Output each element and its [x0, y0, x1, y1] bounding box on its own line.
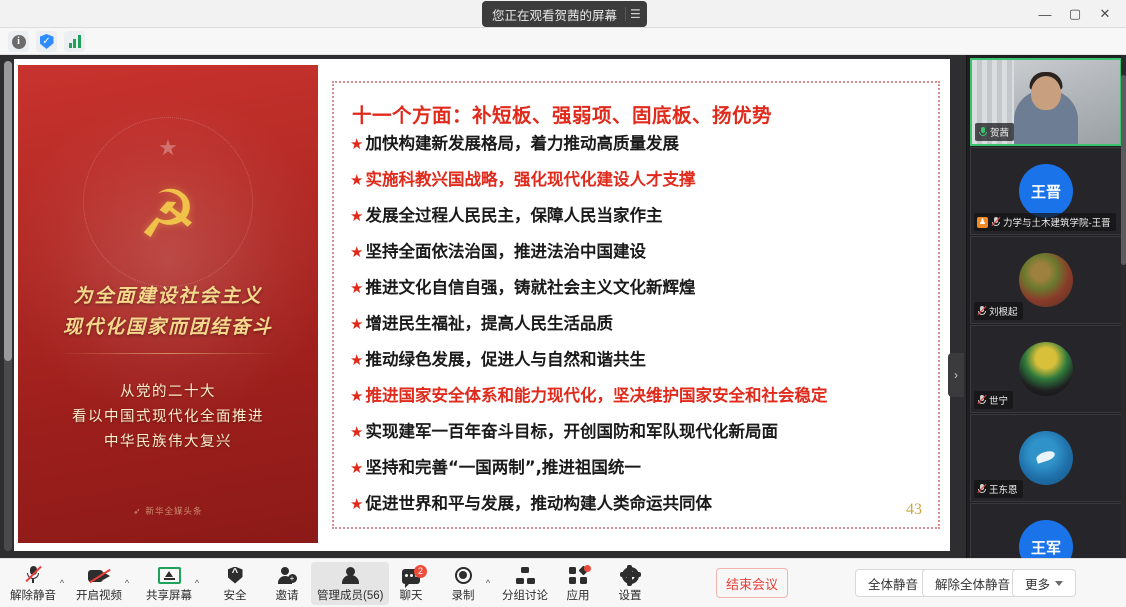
manage-participants-label: 管理成员(56) — [317, 587, 383, 603]
slide-bullet: ★推动绿色发展，促进人与自然和谐共生 — [350, 352, 928, 388]
star-icon: ★ — [350, 281, 363, 296]
participant-tile[interactable]: 刘根起 — [970, 236, 1122, 324]
participant-tile[interactable]: 贺茜 — [970, 58, 1122, 146]
apps-icon — [569, 565, 587, 584]
manage-participants-button[interactable]: 管理成员(56) — [311, 562, 389, 605]
participant-filmstrip: 贺茜王晋♟力学与土木建筑学院-王晋刘根起世宁王东恩王军 — [966, 55, 1126, 558]
slide-bullet-list: ★加快构建新发展格局，着力推动高质量发展★实施科教兴国战略，强化现代化建设人才支… — [344, 136, 928, 532]
record-icon — [455, 565, 472, 584]
chat-label: 聊天 — [400, 587, 423, 603]
apps-notification-dot — [584, 565, 591, 572]
participant-tile[interactable]: 王晋♟力学与土木建筑学院-王晋 — [970, 147, 1122, 235]
security-button[interactable]: 安全 — [209, 562, 261, 605]
audio-options-caret[interactable]: ^ — [55, 573, 69, 593]
poster-star-icon: ★ — [158, 137, 178, 159]
slide-bullet-label: 增进民生福祉，提高人民生活品质 — [365, 316, 613, 333]
maximize-button[interactable]: ▢ — [1060, 1, 1090, 27]
participant-name: 王东恩 — [989, 482, 1018, 496]
star-icon: ★ — [350, 461, 363, 476]
star-icon: ★ — [350, 317, 363, 332]
poster-headline-line-1: 为全面建设社会主义 — [18, 281, 318, 312]
slide-content-panel: 十一个方面：补短板、强弱项、固底板、扬优势 ★加快构建新发展格局，着力推动高质量… — [332, 81, 940, 529]
participant-name: 刘根起 — [989, 304, 1018, 318]
star-icon: ★ — [350, 173, 363, 188]
participant-tile[interactable]: 世宁 — [970, 325, 1122, 413]
slide-bullet-label: 加快构建新发展格局，着力推动高质量发展 — [365, 136, 679, 153]
person-icon — [341, 565, 360, 584]
microphone-icon — [978, 127, 987, 138]
star-icon: ★ — [350, 209, 363, 224]
record-options-caret[interactable]: ^ — [481, 573, 495, 593]
slide-bullet-label: 实现建军一百年奋斗目标，开创国防和军队现代化新局面 — [365, 424, 778, 441]
invite-button[interactable]: + 邀请 — [261, 562, 313, 605]
chat-button[interactable]: 2 聊天 — [385, 562, 437, 605]
star-icon: ★ — [350, 425, 363, 440]
slide-bullet-label: 实施科教兴国战略，强化现代化建设人才支撑 — [365, 172, 695, 189]
share-options-caret[interactable]: ^ — [190, 573, 204, 593]
avatar: 王晋 — [1019, 164, 1073, 218]
poster-subtitle-line-1: 从党的二十大 — [18, 380, 318, 405]
invite-label: 邀请 — [276, 587, 299, 603]
slide-title: 十一个方面：补短板、强弱项、固底板、扬优势 — [352, 99, 928, 128]
unmute-button[interactable]: 解除静音 — [4, 562, 62, 605]
chevron-down-icon — [1055, 581, 1063, 586]
settings-button[interactable]: 设置 — [604, 562, 656, 605]
slide-bullet: ★推进国家安全体系和能力现代化，坚决维护国家安全和社会稳定 — [350, 388, 928, 424]
end-meeting-button[interactable]: 结束会议 — [716, 568, 788, 598]
participant-name: 贺茜 — [990, 125, 1009, 139]
shared-slide: ★ ☭ 为全面建设社会主义 现代化国家而团结奋斗 从党的二十大 看以中国式现代化… — [14, 59, 950, 551]
poster-headline-line-2: 现代化国家而团结奋斗 — [18, 312, 318, 343]
slide-bullet: ★加快构建新发展格局，着力推动高质量发展 — [350, 136, 928, 172]
participant-name-badge: 世宁 — [974, 391, 1013, 409]
share-screen-label: 共享屏幕 — [146, 587, 192, 603]
slide-bullet-label: 促进世界和平与发展，推动构建人类命运共同体 — [365, 496, 712, 513]
video-options-caret[interactable]: ^ — [120, 573, 134, 593]
meeting-toolbar: 解除静音 ^ 开启视频 ^ 共享屏幕 ^ 安全 + 邀请 — [0, 558, 1126, 607]
security-label: 安全 — [224, 587, 247, 603]
microphone-muted-icon — [977, 395, 986, 406]
star-icon: ★ — [350, 137, 363, 152]
slide-bullet-label: 坚持全面依法治国，推进法治中国建设 — [365, 244, 646, 261]
network-bars-icon — [69, 35, 81, 48]
viewing-screen-label: 您正在观看贺茜的屏幕 — [492, 5, 617, 24]
participant-name-badge: 刘根起 — [974, 302, 1023, 320]
participant-name: 世宁 — [989, 393, 1008, 407]
record-label: 录制 — [452, 587, 475, 603]
slide-bullet: ★促进世界和平与发展，推动构建人类命运共同体 — [350, 496, 928, 532]
slide-bullet-label: 推进文化自信自强，铸就社会主义文化新辉煌 — [365, 280, 695, 297]
poster-credit: ➶新华全媒头条 — [18, 505, 318, 517]
add-person-icon: + — [278, 565, 297, 584]
meeting-info-button[interactable]: i — [8, 31, 29, 52]
slide-bullet-label: 推进国家安全体系和能力现代化，坚决维护国家安全和社会稳定 — [365, 388, 827, 405]
gear-icon — [622, 565, 639, 584]
breakout-rooms-button[interactable]: 分组讨论 — [496, 562, 554, 605]
share-screen-icon — [158, 565, 181, 584]
settings-label: 设置 — [619, 587, 642, 603]
more-label: 更多 — [1025, 574, 1050, 593]
apps-button[interactable]: 应用 — [552, 562, 604, 605]
microphone-muted-icon — [25, 565, 41, 584]
poster-divider — [58, 353, 278, 354]
encryption-button[interactable]: ✓ — [36, 31, 57, 52]
more-options-button[interactable]: 更多 — [1012, 569, 1076, 597]
breakout-rooms-icon — [516, 565, 535, 584]
notice-menu-icon[interactable]: ☰ — [625, 7, 641, 21]
filmstrip-scrollbar[interactable] — [1121, 55, 1126, 558]
slide-poster-panel: ★ ☭ 为全面建设社会主义 现代化国家而团结奋斗 从党的二十大 看以中国式现代化… — [18, 65, 318, 543]
apps-label: 应用 — [567, 587, 590, 603]
poster-subtitle-line-3: 中华民族伟大复兴 — [18, 430, 318, 455]
participant-name-badge: 王东恩 — [974, 480, 1023, 498]
camera-muted-icon — [88, 565, 110, 584]
microphone-muted-icon — [991, 217, 1000, 228]
slide-page-number: 43 — [906, 501, 922, 519]
swoosh-icon: ➶ — [133, 506, 141, 516]
slide-bullet: ★发展全过程人民民主，保障人民当家作主 — [350, 208, 928, 244]
info-icon: i — [12, 35, 26, 49]
poster-subtitle: 从党的二十大 看以中国式现代化全面推进 中华民族伟大复兴 — [18, 380, 318, 455]
viewing-screen-notice[interactable]: 您正在观看贺茜的屏幕 ☰ — [482, 1, 647, 27]
unmute-all-button[interactable]: 解除全体静音 — [922, 569, 1023, 597]
slide-bullet: ★推进文化自信自强，铸就社会主义文化新辉煌 — [350, 280, 928, 316]
participant-name: 力学与土木建筑学院-王晋 — [1003, 215, 1111, 229]
close-button[interactable]: ✕ — [1090, 1, 1120, 27]
avatar — [1019, 431, 1073, 485]
slide-bullet-label: 坚持和完善“一国两制”,推进祖国统一 — [365, 460, 640, 477]
window-controls: — ▢ ✕ — [1030, 0, 1120, 28]
network-quality-button[interactable] — [64, 31, 85, 52]
shield-icon — [228, 565, 243, 584]
unmute-label: 解除静音 — [10, 587, 56, 603]
participant-tile[interactable]: 王东恩 — [970, 414, 1122, 502]
poster-subtitle-line-2: 看以中国式现代化全面推进 — [18, 405, 318, 430]
start-video-label: 开启视频 — [76, 587, 122, 603]
slide-bullet: ★实施科教兴国战略，强化现代化建设人才支撑 — [350, 172, 928, 208]
star-icon: ★ — [350, 497, 363, 512]
avatar — [1019, 253, 1073, 307]
chat-icon: 2 — [402, 565, 420, 584]
slide-bullet: ★增进民生福祉，提高人民生活品质 — [350, 316, 928, 352]
zoom-meeting-window: 您正在观看贺茜的屏幕 ☰ — ▢ ✕ i ✓ 正在讲话: 贺茜; — [0, 0, 1126, 607]
slide-bullet: ★坚持全面依法治国，推进法治中国建设 — [350, 244, 928, 280]
slide-bullet: ★坚持和完善“一国两制”,推进祖国统一 — [350, 460, 928, 496]
participant-name-badge: 贺茜 — [975, 123, 1014, 141]
participant-name-badge: ♟力学与土木建筑学院-王晋 — [974, 213, 1116, 231]
slide-bullet: ★实现建军一百年奋斗目标，开创国防和军队现代化新局面 — [350, 424, 928, 460]
shared-screen-stage: ★ ☭ 为全面建设社会主义 现代化国家而团结奋斗 从党的二十大 看以中国式现代化… — [0, 55, 966, 558]
avatar — [1019, 342, 1073, 396]
minimize-button[interactable]: — — [1030, 1, 1060, 27]
microphone-muted-icon — [977, 306, 986, 317]
star-icon: ★ — [350, 389, 363, 404]
shield-icon: ✓ — [40, 34, 54, 49]
slide-bullet-label: 推动绿色发展，促进人与自然和谐共生 — [365, 352, 646, 369]
status-bar: i ✓ 正在讲话: 贺茜; 演讲者视图 — [0, 28, 1126, 55]
microphone-muted-icon — [977, 484, 986, 495]
slide-bullet-label: 发展全过程人民民主，保障人民当家作主 — [365, 208, 662, 225]
collapse-filmstrip-button[interactable]: › — [948, 353, 964, 397]
poster-headline: 为全面建设社会主义 现代化国家而团结奋斗 — [18, 281, 318, 343]
poster-credit-label: 新华全媒头条 — [146, 506, 203, 516]
star-icon: ★ — [350, 353, 363, 368]
chat-unread-badge: 2 — [414, 565, 427, 578]
star-icon: ★ — [350, 245, 363, 260]
breakout-rooms-label: 分组讨论 — [502, 587, 548, 603]
title-bar: 您正在观看贺茜的屏幕 ☰ — ▢ ✕ — [0, 0, 1126, 28]
status-icon-group: i ✓ — [8, 31, 85, 52]
mute-all-button[interactable]: 全体静音 — [855, 569, 931, 597]
party-emblem-icon: ☭ — [131, 177, 205, 251]
host-icon: ♟ — [977, 217, 988, 228]
stage-scrollbar[interactable] — [4, 61, 12, 551]
